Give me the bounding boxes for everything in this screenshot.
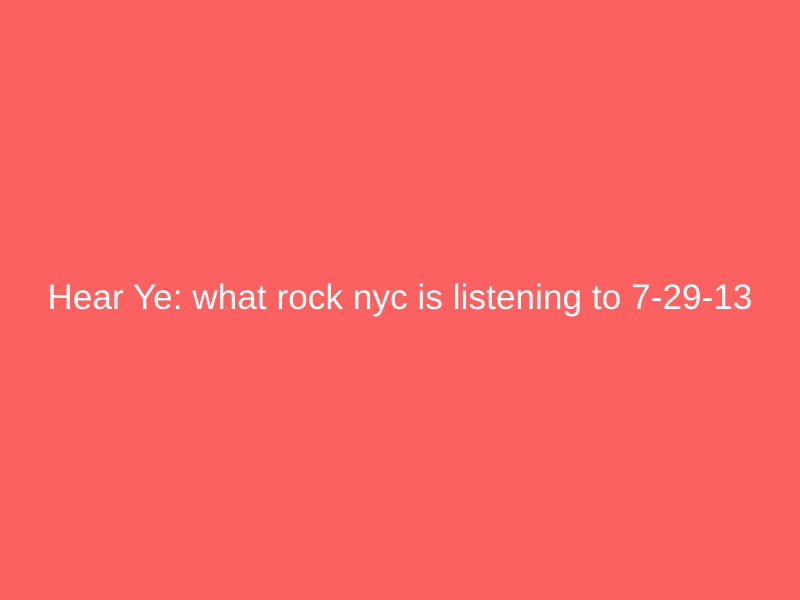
banner-content: Hear Ye: what rock nyc is listening to 7… <box>0 276 800 320</box>
banner-canvas: Hear Ye: what rock nyc is listening to 7… <box>0 0 800 600</box>
banner-title: Hear Ye: what rock nyc is listening to 7… <box>24 276 776 320</box>
